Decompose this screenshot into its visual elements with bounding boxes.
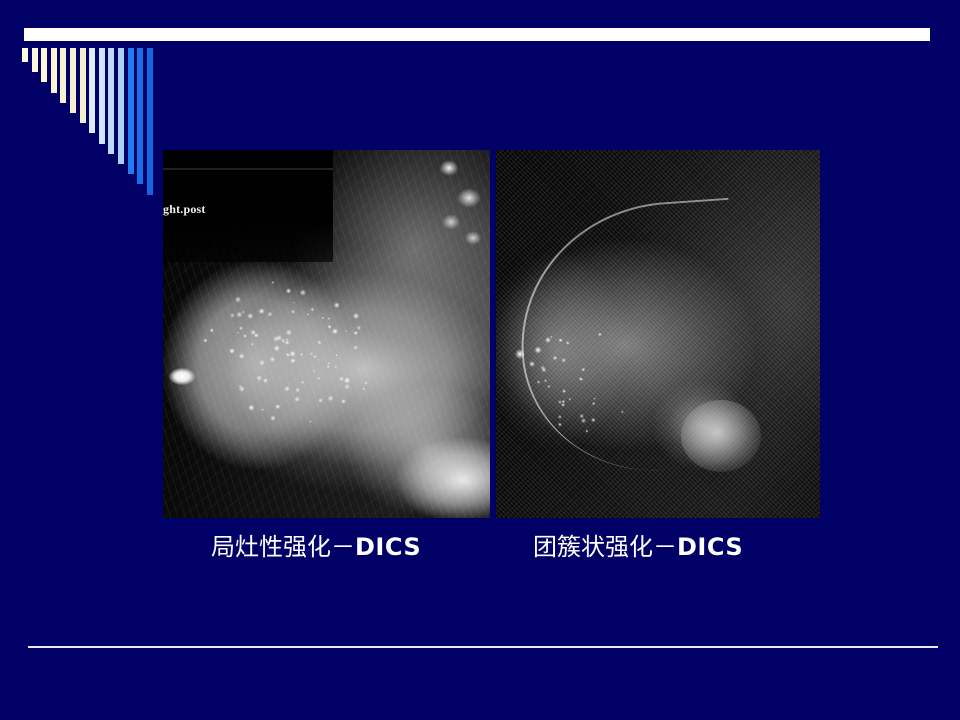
right-mri-punctate-foci xyxy=(496,150,820,518)
left-caption-latin: DICS xyxy=(355,533,421,561)
accent-bar-7 xyxy=(80,48,86,123)
left-mri-punctate-foci xyxy=(163,150,490,518)
right-caption-latin: DICS xyxy=(677,533,743,561)
accent-bar-3 xyxy=(41,48,47,82)
caption-row: 局灶性强化－DICS 团簇状强化－DICS xyxy=(163,530,820,566)
presentation-slide: ght.post 局灶性强化－DICS 团簇状强化－DICS xyxy=(0,0,960,720)
accent-bar-13 xyxy=(137,48,143,184)
accent-bar-10 xyxy=(108,48,114,154)
accent-bar-4 xyxy=(51,48,57,93)
right-image-caption: 团簇状强化－DICS xyxy=(533,530,743,565)
accent-bar-12 xyxy=(128,48,134,174)
mri-image-band: ght.post xyxy=(163,150,820,518)
left-caption-cjk: 局灶性强化－ xyxy=(211,535,355,561)
staircase-bar-motif xyxy=(22,48,162,193)
left-mri-image[interactable]: ght.post xyxy=(163,150,490,518)
right-caption-cjk: 团簇状强化－ xyxy=(533,535,677,561)
accent-bar-9 xyxy=(99,48,105,144)
accent-bar-11 xyxy=(118,48,124,164)
left-image-caption: 局灶性强化－DICS xyxy=(211,530,421,565)
bottom-hairline-rule xyxy=(28,646,938,648)
right-mri-image[interactable] xyxy=(496,150,820,518)
left-mri-overlay-text: ght.post xyxy=(163,202,206,217)
accent-bar-1 xyxy=(22,48,28,62)
accent-bar-6 xyxy=(70,48,76,113)
accent-bar-2 xyxy=(32,48,38,72)
accent-bar-8 xyxy=(89,48,95,133)
top-white-rule xyxy=(24,28,930,41)
accent-bar-14 xyxy=(147,48,153,195)
accent-bar-5 xyxy=(60,48,66,103)
